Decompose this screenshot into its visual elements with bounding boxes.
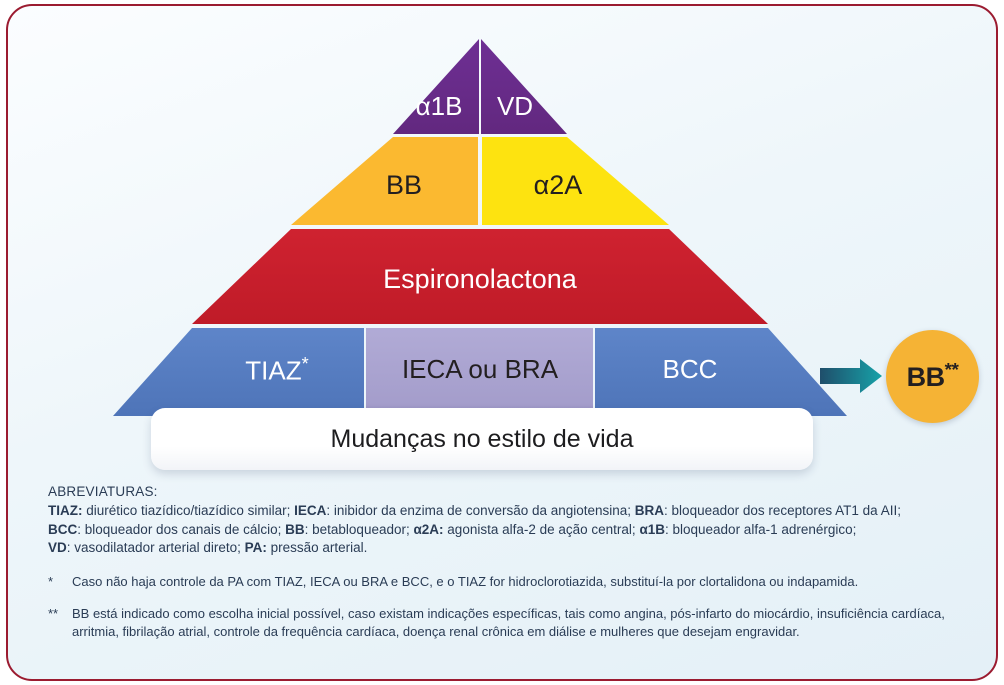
abbr-text: diurético tiazídico/tiazídico similar; bbox=[83, 503, 295, 518]
footnote-marker: * bbox=[48, 573, 72, 591]
abbr-key: α2A: bbox=[413, 522, 443, 537]
abbr-key: PA: bbox=[245, 540, 267, 555]
bb-side-node: BB** bbox=[886, 330, 979, 423]
bb-footnote-marker: ** bbox=[945, 360, 959, 381]
tier-base bbox=[113, 328, 847, 416]
treatment-pyramid bbox=[8, 6, 998, 426]
lifestyle-banner-label: Mudanças no estilo de vida bbox=[331, 425, 634, 454]
abbreviation-line: VD: vasodilatador arterial direto; PA: p… bbox=[48, 539, 968, 558]
arrow-to-bb-node bbox=[820, 359, 882, 393]
abbr-text: : bloqueador alfa-1 adrenérgico; bbox=[665, 522, 856, 537]
abbreviation-line: BCC: bloqueador dos canais de cálcio; BB… bbox=[48, 521, 968, 540]
abbr-text: : betabloqueador; bbox=[305, 522, 414, 537]
abbreviation-line: TIAZ: diurético tiazídico/tiazídico simi… bbox=[48, 502, 968, 521]
bb-side-node-label: BB** bbox=[907, 360, 959, 393]
tier-base-cell-tiaz bbox=[113, 328, 364, 416]
abbr-key: BB bbox=[285, 522, 305, 537]
footnote-marker: ** bbox=[48, 605, 72, 640]
abbr-key: IECA bbox=[294, 503, 326, 518]
abbr-text: : bloqueador dos canais de cálcio; bbox=[77, 522, 285, 537]
footnote-double-asterisk: ** BB está indicado como escolha inicial… bbox=[48, 605, 968, 640]
tier-apex-cell-a1b bbox=[393, 39, 479, 134]
tier-apex-cell-vd bbox=[481, 39, 567, 134]
abbr-key: TIAZ: bbox=[48, 503, 83, 518]
tier-second bbox=[291, 137, 669, 225]
abbr-key: α1B bbox=[639, 522, 665, 537]
footnote-single-asterisk: * Caso não haja controle da PA com TIAZ,… bbox=[48, 573, 968, 591]
tier-second-cell-bb bbox=[291, 137, 478, 225]
footnote-text: Caso não haja controle da PA com TIAZ, I… bbox=[72, 573, 968, 591]
abbr-text: agonista alfa-2 de ação central; bbox=[444, 522, 640, 537]
abbr-key: BRA bbox=[635, 503, 664, 518]
footer-legend: ABREVIATURAS: TIAZ: diurético tiazídico/… bbox=[48, 484, 968, 640]
tier-second-cell-a2a bbox=[482, 137, 669, 225]
abbr-text: : inibidor da enzima de conversão da ang… bbox=[326, 503, 634, 518]
infographic-frame: α1B VD BB α2A Espironolactona TIAZ* IECA… bbox=[6, 4, 998, 681]
tier-base-cell-bcc bbox=[595, 328, 847, 416]
abbr-text: : vasodilatador arterial direto; bbox=[67, 540, 245, 555]
footnote-text: BB está indicado como escolha inicial po… bbox=[72, 605, 968, 640]
abbr-text: : bloqueador dos receptores AT1 da AII; bbox=[664, 503, 901, 518]
abbr-key: BCC bbox=[48, 522, 77, 537]
abbreviations-title: ABREVIATURAS: bbox=[48, 484, 968, 499]
tier-base-cell-ieca-ou-bra bbox=[366, 328, 593, 416]
tier-third-cell-espironolactona bbox=[192, 229, 768, 324]
bb-side-node-text: BB bbox=[907, 362, 945, 392]
tier-apex bbox=[393, 39, 567, 134]
lifestyle-banner: Mudanças no estilo de vida bbox=[151, 408, 813, 470]
abbr-text: pressão arterial. bbox=[267, 540, 368, 555]
abbr-key: VD bbox=[48, 540, 67, 555]
